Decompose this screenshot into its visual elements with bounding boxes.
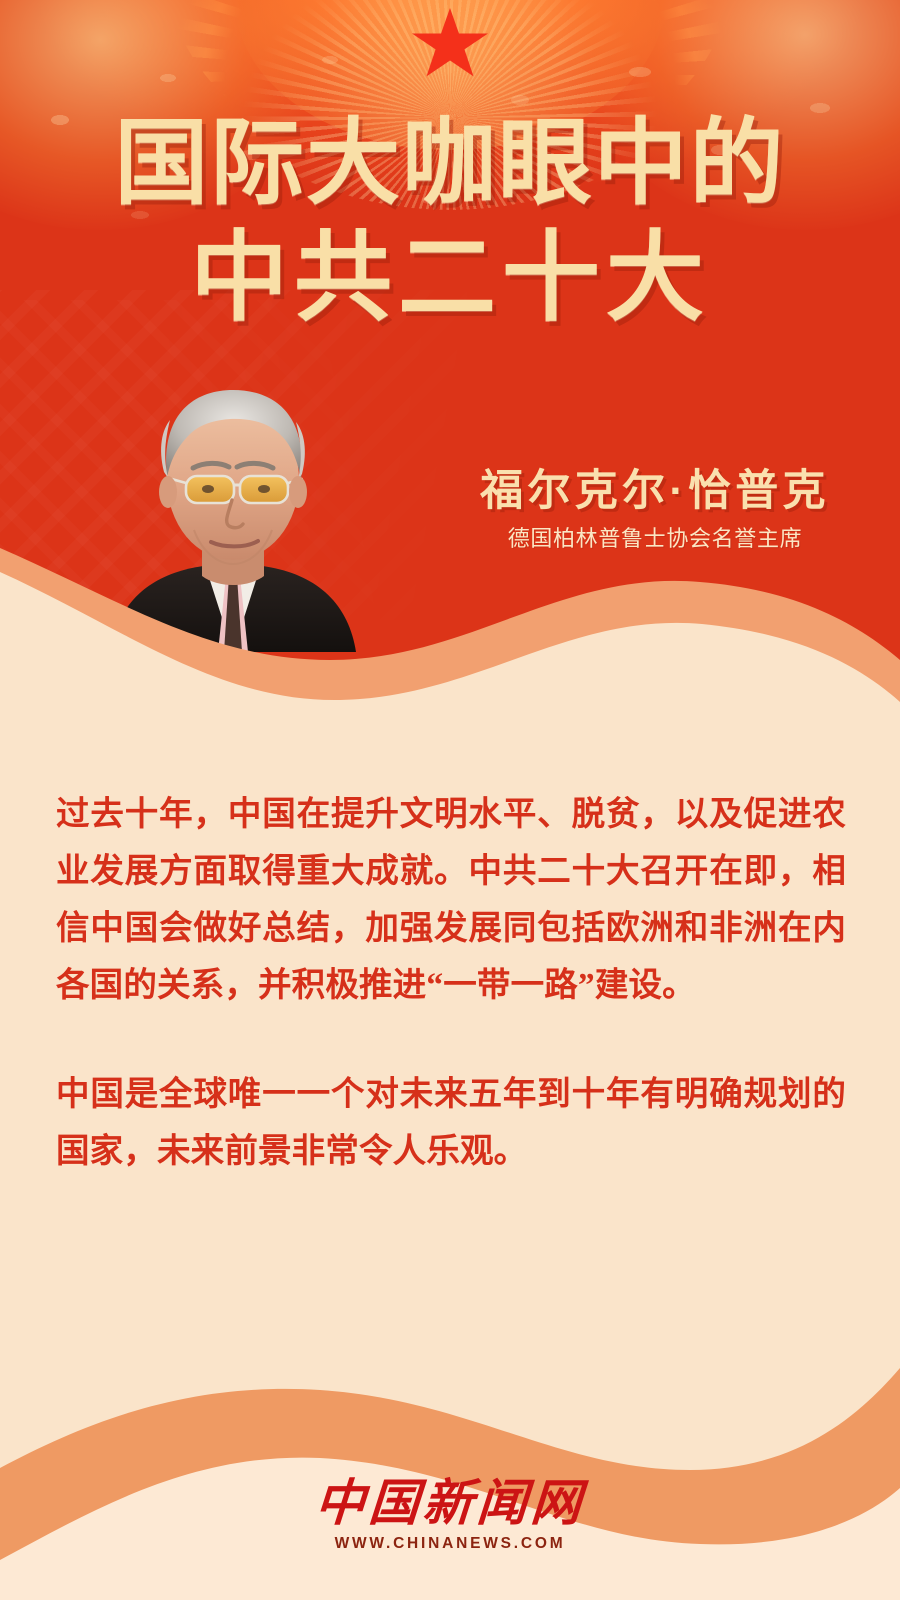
quote-paragraph-2: 中国是全球唯一一个对未来五年到十年有明确规划的国家，未来前景非常令人乐观。 — [56, 1066, 846, 1180]
title-line-1: 国际大咖眼中的 — [0, 104, 900, 222]
speaker-title: 德国柏林普鲁士协会名誉主席 — [430, 524, 880, 554]
footer-branding: 中国新闻网 WWW.CHINANEWS.COM — [0, 1474, 900, 1554]
title-line-2: 中共二十大 — [0, 222, 900, 332]
poster-title: 国际大咖眼中的 中共二十大 — [0, 104, 900, 332]
poster-root: 国际大咖眼中的 中共二十大 福尔克尔·恰普克 德国柏林普鲁士协会名誉主席 过去十… — [0, 0, 900, 1600]
chinanews-url: WWW.CHINANEWS.COM — [0, 1534, 900, 1554]
quote-body: 过去十年，中国在提升文明水平、脱贫，以及促进农业发展方面取得重大成就。中共二十大… — [56, 786, 846, 1180]
speaker-identity: 福尔克尔·恰普克 德国柏林普鲁士协会名誉主席 — [430, 466, 880, 554]
chinanews-logo-text: 中国新闻网 — [0, 1474, 900, 1532]
speaker-name: 福尔克尔·恰普克 — [430, 466, 880, 516]
quote-paragraph-1: 过去十年，中国在提升文明水平、脱贫，以及促进农业发展方面取得重大成就。中共二十大… — [56, 786, 846, 1014]
